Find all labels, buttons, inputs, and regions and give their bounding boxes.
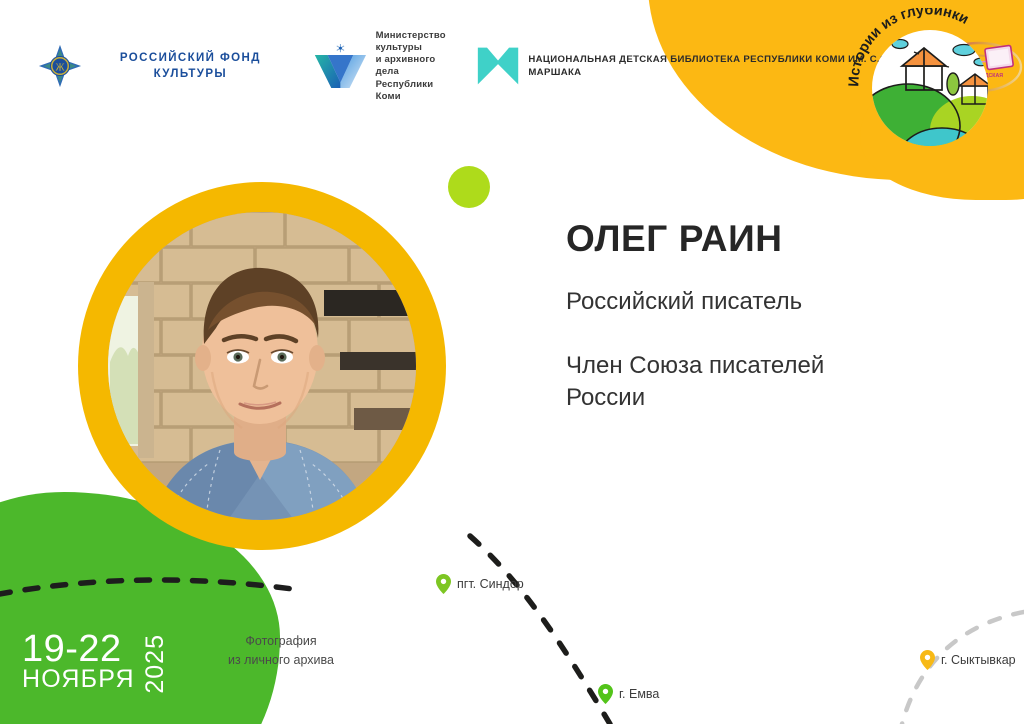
lime-dot-decoration (448, 166, 490, 208)
poster-canvas: Ж РОССИЙСКИЙ ФОНД КУЛЬТУРЫ (0, 0, 1024, 724)
map-pin-icon (920, 650, 935, 670)
ministry-culture-komi-icon (313, 40, 368, 92)
map-pin-label: г. Емва (619, 687, 659, 701)
brand-badge: Истории из глубинки (838, 8, 1014, 160)
map-pin-label: пгт. Синдор (457, 577, 524, 591)
brand-badge-illustration: Истории из глубинки (838, 8, 1014, 160)
map-pin-icon (598, 684, 613, 704)
map-pin-icon (436, 574, 451, 594)
map-pin-emva[interactable]: г. Емва (598, 684, 659, 704)
person-name: ОЛЕГ РАИН (566, 218, 824, 260)
map-pin-syktyvkar[interactable]: г. Сыктывкар (920, 650, 1016, 670)
event-date-month: НОЯБРЯ (22, 668, 135, 692)
portrait-illustration (108, 212, 416, 520)
event-date-year: 2025 (141, 634, 170, 694)
map-pin-label: г. Сыктывкар (941, 653, 1016, 667)
russian-culture-fund-icon: Ж (38, 41, 82, 91)
portrait-ring (78, 182, 446, 550)
person-info-block: ОЛЕГ РАИН Российский писатель Член Союза… (566, 218, 824, 414)
portrait-photo (108, 212, 416, 520)
logo-russian-culture-fund: Ж РОССИЙСКИЙ ФОНД КУЛЬТУРЫ (38, 41, 291, 91)
photo-caption: Фотография из личного архива (228, 632, 334, 670)
svg-text:Ж: Ж (55, 63, 65, 74)
national-childrens-library-icon (476, 42, 520, 90)
person-role: Российский писатель (566, 288, 824, 316)
map-pin-sindor[interactable]: пгт. Синдор (436, 574, 524, 594)
person-membership: Член Союза писателей России (566, 350, 824, 414)
event-date-range: 19-22 (22, 632, 135, 668)
logo-ministry-culture-komi-label: Министерство культуры и архивного дела Р… (376, 30, 455, 103)
logo-ministry-culture-komi: Министерство культуры и архивного дела Р… (313, 30, 455, 103)
logo-russian-culture-fund-label: РОССИЙСКИЙ ФОНД КУЛЬТУРЫ (90, 50, 291, 83)
event-date-block: 19-22 НОЯБРЯ 2025 (22, 632, 170, 694)
